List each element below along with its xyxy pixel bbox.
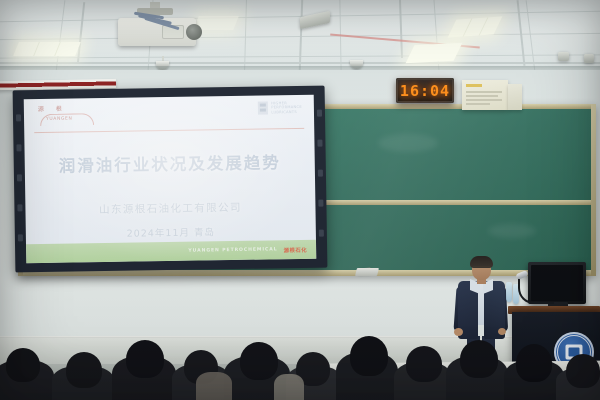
clock-time: 16:04	[400, 82, 450, 100]
mark-icon	[258, 101, 268, 114]
wall-speaker	[558, 52, 569, 61]
lecture-hall-photo: 源 根 YUANGEN HIGHER PERFORMANCE LUBRICANT…	[0, 0, 600, 400]
logo-english-text: YUANGEN	[46, 117, 72, 122]
wall-notice-board	[462, 80, 508, 110]
slide-date-location: 2024年11月 青岛	[26, 223, 316, 242]
slide-title: 润滑油行业状况及发展趋势	[25, 149, 315, 178]
wall-notice-board-secondary	[508, 84, 522, 110]
ceiling-projector	[118, 18, 196, 46]
student-head	[6, 348, 40, 382]
slide-company-name: 山东源根石油化工有限公司	[25, 199, 315, 219]
projector-lens	[186, 24, 202, 40]
student-shoulders	[196, 372, 232, 400]
slide-divider	[34, 128, 304, 133]
student-head	[240, 342, 278, 380]
ceiling	[0, 0, 600, 72]
laptop[interactable]	[355, 268, 379, 276]
yuangen-logo: 源 根 YUANGEN	[38, 105, 96, 128]
notice-header-bar	[466, 84, 482, 87]
ceiling-rail	[0, 62, 600, 64]
student-head	[516, 344, 552, 382]
student-shoulders	[274, 374, 304, 400]
student-head	[126, 340, 164, 378]
student-head	[66, 352, 102, 388]
student-head	[350, 336, 388, 376]
slide-corner-mark: HIGHER PERFORMANCE LUBRICANTS	[258, 101, 302, 115]
footer-chinese: 源根石化	[283, 245, 307, 253]
footer-english: YUANGEN PETROCHEMICAL	[188, 247, 277, 253]
digital-wall-clock: 16:04	[396, 78, 454, 103]
presentation-slide: 源 根 YUANGEN HIGHER PERFORMANCE LUBRICANT…	[24, 95, 317, 264]
glasses-icon	[473, 266, 490, 270]
audience	[0, 326, 600, 400]
projection-screen: 源 根 YUANGEN HIGHER PERFORMANCE LUBRICANT…	[13, 86, 328, 273]
ceiling-light-panel	[406, 43, 463, 64]
student-head	[566, 354, 600, 388]
wall-speaker	[584, 54, 594, 63]
ceiling-light-panel	[13, 42, 81, 56]
mark-line-3: LUBRICANTS	[271, 110, 302, 115]
gooseneck-microphone-arm	[518, 276, 554, 304]
logo-chinese-text: 源 根	[38, 105, 96, 113]
chalkboard-rail	[591, 104, 596, 276]
student-head	[460, 340, 498, 378]
student-head	[406, 346, 442, 382]
